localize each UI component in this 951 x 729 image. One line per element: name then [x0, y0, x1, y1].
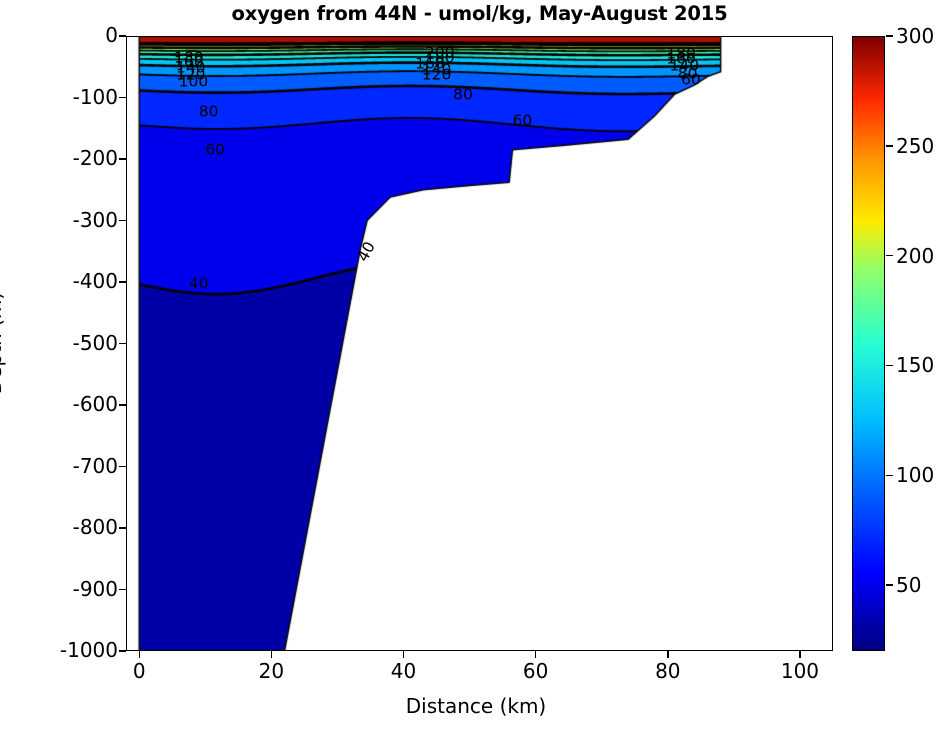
axis-spine-bottom — [126, 650, 833, 651]
y-tick — [119, 650, 126, 651]
contour-label: 40 — [189, 277, 209, 293]
colorbar-tick — [886, 255, 893, 256]
y-tick — [119, 589, 126, 590]
colorbar-ticklabel: 50 — [896, 573, 921, 597]
y-tick — [119, 404, 126, 405]
x-ticklabel: 60 — [523, 659, 548, 683]
colorbar-tick — [886, 475, 893, 476]
figure-oxygen-section: oxygen from 44N - umol/kg, May-August 20… — [0, 0, 951, 729]
y-tick — [119, 343, 126, 344]
x-ticklabel: 20 — [259, 659, 284, 683]
x-tick — [271, 651, 272, 658]
y-ticklabel-text: -300 — [73, 208, 118, 232]
y-tick — [119, 158, 126, 159]
contour-label: 120 — [422, 68, 452, 84]
axis-spine-left — [126, 36, 127, 651]
colorbar-ticklabel: 100 — [896, 463, 934, 487]
x-tick — [667, 651, 668, 658]
plot-area: 1801601401201008060402001801601401208060… — [126, 36, 833, 651]
contour-canvas-wrap — [126, 36, 833, 651]
colorbar-tick — [886, 365, 893, 366]
x-axis-label: Distance (km) — [406, 694, 546, 718]
axis-spine-top — [126, 36, 833, 37]
y-axis-label: Depth (m) — [0, 292, 6, 394]
y-tick — [119, 527, 126, 528]
contour-label: 60 — [513, 113, 533, 129]
contour-label: 100 — [179, 74, 209, 90]
chart-title: oxygen from 44N - umol/kg, May-August 20… — [126, 2, 833, 32]
y-ticklabel-text: -500 — [73, 331, 118, 355]
x-tick — [139, 651, 140, 658]
y-ticklabel-text: -900 — [73, 577, 118, 601]
colorbar-tick — [886, 145, 893, 146]
colorbar-gradient — [853, 37, 884, 650]
colorbar-ticklabel: 300 — [896, 24, 934, 48]
y-ticklabel-text: -400 — [73, 269, 118, 293]
x-tick — [799, 651, 800, 658]
colorbar-ticklabel: 200 — [896, 244, 934, 268]
y-ticklabel-text: 0 — [105, 23, 118, 47]
y-tick — [119, 281, 126, 282]
y-ticklabel-text: -700 — [73, 454, 118, 478]
y-ticklabel-text: -1000 — [60, 638, 118, 662]
y-ticklabel-text: -200 — [73, 146, 118, 170]
colorbar-tick — [886, 35, 893, 36]
x-ticklabel: 100 — [781, 659, 819, 683]
oxygen-contour-field — [126, 36, 833, 651]
y-ticklabel-text: -800 — [73, 515, 118, 539]
colorbar-ticklabel: 250 — [896, 134, 934, 158]
x-ticklabel: 80 — [655, 659, 680, 683]
axis-spine-right — [832, 36, 833, 651]
x-ticklabel: 0 — [133, 659, 146, 683]
contour-label: 80 — [453, 87, 473, 103]
y-tick — [119, 220, 126, 221]
colorbar — [852, 36, 885, 651]
contour-label: 60 — [205, 142, 225, 158]
y-ticklabel-text: -100 — [73, 85, 118, 109]
x-tick — [403, 651, 404, 658]
colorbar-tick — [886, 584, 893, 585]
colorbar-ticklabel: 150 — [896, 353, 934, 377]
contour-label: 60 — [681, 73, 701, 89]
y-tick — [119, 35, 126, 36]
x-ticklabel: 40 — [391, 659, 416, 683]
y-tick — [119, 97, 126, 98]
y-tick — [119, 466, 126, 467]
x-tick — [535, 651, 536, 658]
contour-label: 80 — [199, 105, 219, 121]
y-ticklabel-text: -600 — [73, 392, 118, 416]
